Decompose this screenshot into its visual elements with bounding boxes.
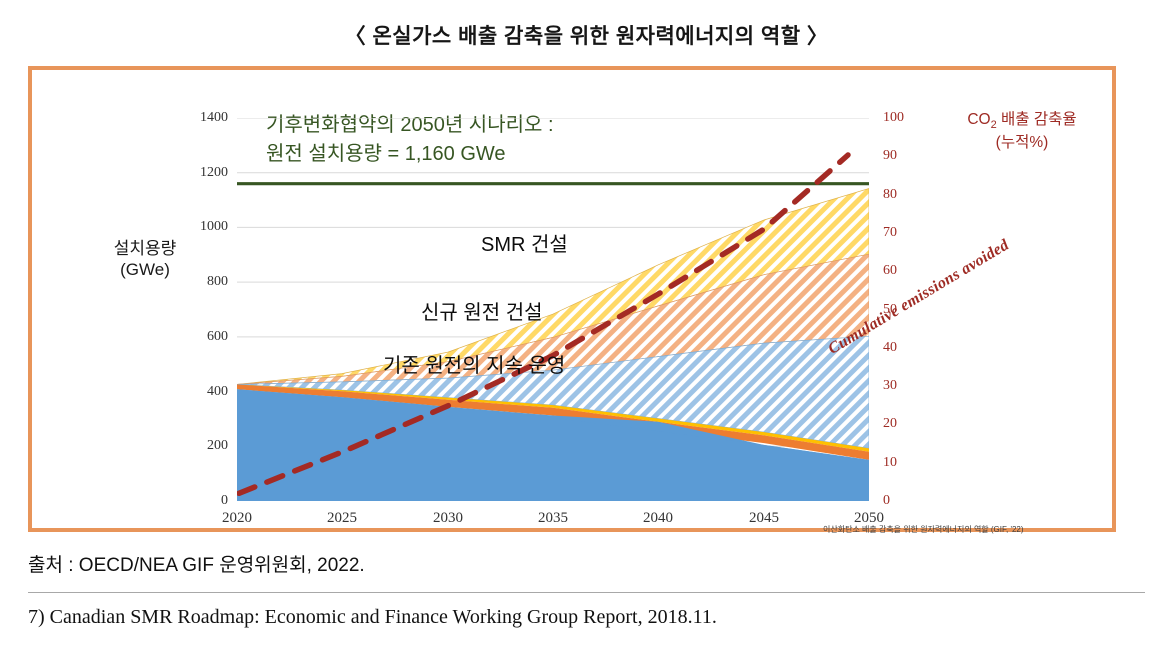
y-tick-right-60: 60 bbox=[883, 263, 923, 279]
x-tick-2035: 2035 bbox=[518, 510, 588, 527]
y-tick-left-1400: 1400 bbox=[172, 110, 228, 126]
y-tick-left-1000: 1000 bbox=[172, 219, 228, 235]
y-tick-right-80: 80 bbox=[883, 187, 923, 203]
y-tick-left-1200: 1200 bbox=[172, 165, 228, 181]
source-line: 출처 : OECD/NEA GIF 운영위원회, 2022. bbox=[28, 550, 365, 577]
y-tick-left-0: 0 bbox=[172, 493, 228, 509]
y-axis-title-right-line2: (누적%) bbox=[996, 134, 1049, 151]
y-tick-left-800: 800 bbox=[172, 274, 228, 290]
x-tick-2030: 2030 bbox=[413, 510, 483, 527]
x-tick-2045: 2045 bbox=[729, 510, 799, 527]
y-tick-right-40: 40 bbox=[883, 340, 923, 356]
y-tick-right-30: 30 bbox=[883, 378, 923, 394]
x-tick-2040: 2040 bbox=[623, 510, 693, 527]
y-tick-left-400: 400 bbox=[172, 384, 228, 400]
series-label-new-build: 신규 원전 건설 bbox=[421, 296, 543, 325]
y-tick-right-20: 20 bbox=[883, 416, 923, 432]
chart-svg bbox=[237, 118, 869, 501]
y-tick-left-200: 200 bbox=[172, 438, 228, 454]
figure-frame: 설치용량 (GWe) CO2 배출 감축율 (누적%) 기후변화협약의 2050… bbox=[28, 66, 1116, 532]
y-tick-left-600: 600 bbox=[172, 329, 228, 345]
series-label-smr: SMR 건설 bbox=[481, 228, 568, 257]
y-tick-right-0: 0 bbox=[883, 493, 923, 509]
y-tick-right-10: 10 bbox=[883, 455, 923, 471]
series-label-lto: 기존 원전의 지속 운영 bbox=[383, 349, 565, 378]
plot-area: SMR 건설 신규 원전 건설 기존 원전의 지속 운영 Cumulative … bbox=[237, 118, 869, 501]
x-tick-2050: 2050 bbox=[834, 510, 904, 527]
x-tick-2020: 2020 bbox=[202, 510, 272, 527]
y-tick-right-70: 70 bbox=[883, 225, 923, 241]
footnote-divider bbox=[28, 592, 1145, 593]
footnote: 7) Canadian SMR Roadmap: Economic and Fi… bbox=[28, 606, 717, 629]
y-tick-right-50: 50 bbox=[883, 302, 923, 318]
y-tick-right-90: 90 bbox=[883, 148, 923, 164]
y-axis-title-right-rest: 배출 감축율 bbox=[997, 111, 1077, 128]
page-title: 〈 온실가스 배출 감축을 위한 원자력에너지의 역할 〉 bbox=[0, 20, 1173, 50]
x-tick-2025: 2025 bbox=[307, 510, 377, 527]
y-axis-title-right-co: CO bbox=[967, 111, 990, 128]
y-tick-right-100: 100 bbox=[883, 110, 923, 126]
y-axis-title-right: CO2 배출 감축율 (누적%) bbox=[937, 110, 1107, 152]
